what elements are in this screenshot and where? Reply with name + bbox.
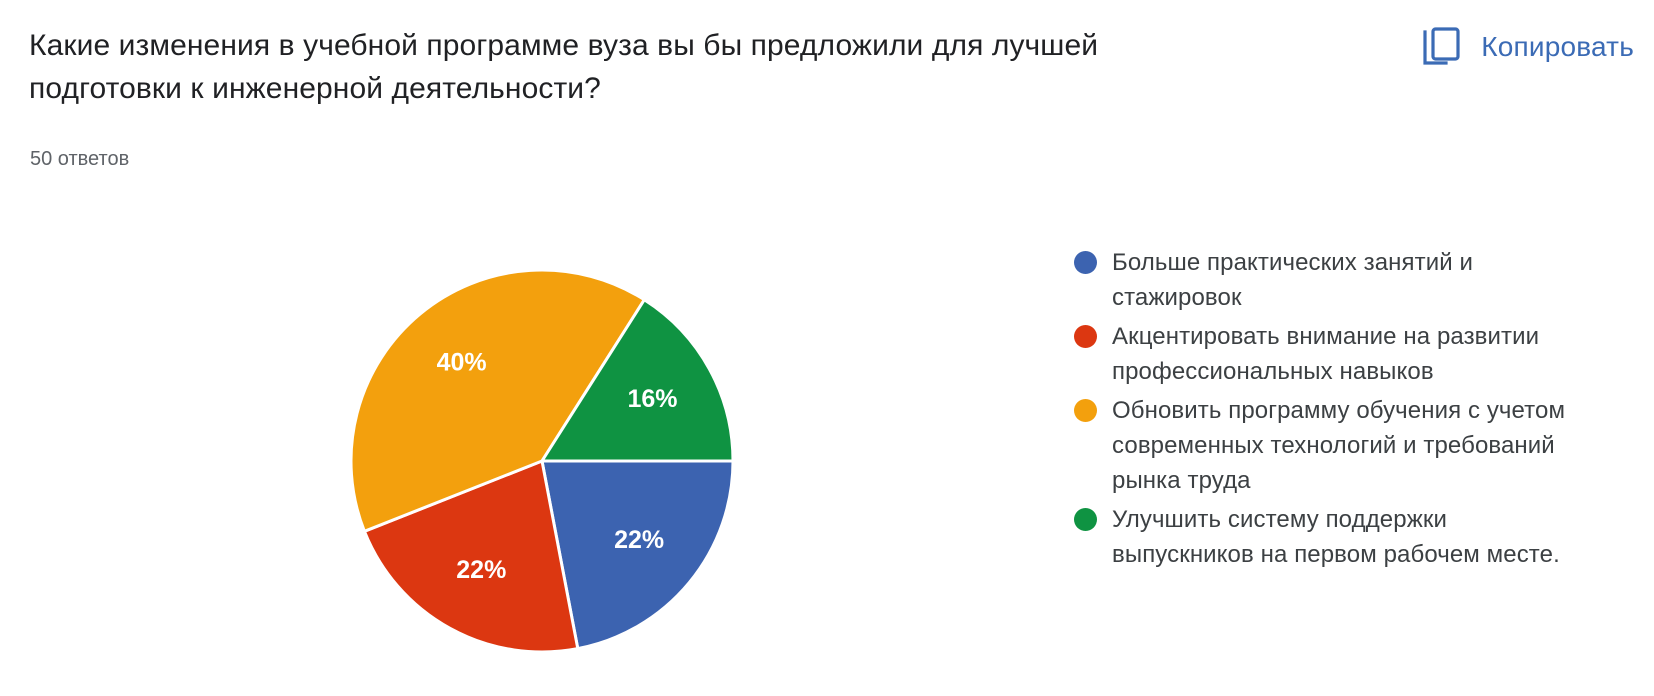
pie-slice-value: 40%: [437, 349, 487, 377]
list-item[interactable]: Больше практических занятий и стажировок: [1074, 245, 1574, 315]
legend-label-1: Акцентировать внимание на развитии профе…: [1112, 319, 1572, 389]
legend-label-3: Улучшить систему поддержки выпускников н…: [1112, 502, 1572, 572]
legend-swatch-0: [1074, 251, 1097, 274]
copy-icon: [1422, 26, 1462, 68]
pie-slices: [351, 270, 733, 652]
list-item[interactable]: Обновить программу обучения с учетом сов…: [1074, 393, 1574, 498]
legend-swatch-2: [1074, 399, 1097, 422]
chart-legend: Больше практических занятий и стажировок…: [1074, 245, 1574, 576]
list-item[interactable]: Улучшить систему поддержки выпускников н…: [1074, 502, 1574, 572]
pie-chart-section: 22%22%40%16% Больше практических занятий…: [0, 190, 1654, 696]
legend-swatch-1: [1074, 325, 1097, 348]
copy-button-label: Копировать: [1481, 31, 1634, 63]
pie-chart: 22%22%40%16%: [0, 190, 1000, 696]
legend-label-2: Обновить программу обучения с учетом сов…: [1112, 393, 1572, 498]
copy-button[interactable]: Копировать: [1416, 22, 1640, 72]
pie-slice-value: 22%: [614, 526, 664, 554]
pie-slice-value: 16%: [627, 385, 677, 413]
legend-label-0: Больше практических занятий и стажировок: [1112, 245, 1572, 315]
page-title: Какие изменения в учебной программе вуза…: [29, 24, 1189, 110]
legend-swatch-3: [1074, 508, 1097, 531]
response-count: 50 ответов: [30, 146, 129, 172]
question-header: Какие изменения в учебной программе вуза…: [0, 0, 1654, 190]
list-item[interactable]: Акцентировать внимание на развитии профе…: [1074, 319, 1574, 389]
pie-slice-value: 22%: [456, 556, 506, 584]
